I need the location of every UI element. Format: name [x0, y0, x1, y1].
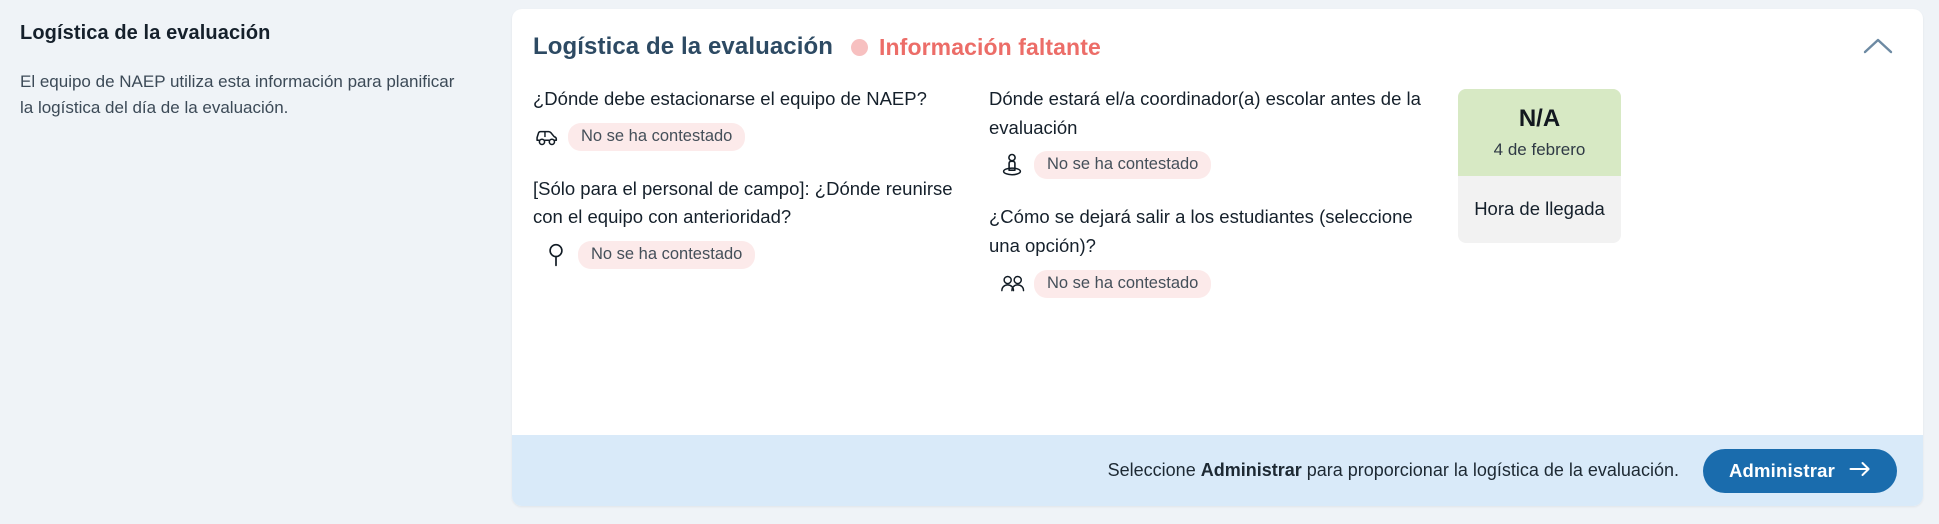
question-item: ¿Dónde debe estacionarse el equipo de NA…: [533, 85, 972, 151]
person-standing-icon: [999, 152, 1025, 178]
questions-column-left: ¿Dónde debe estacionarse el equipo de NA…: [512, 85, 972, 322]
arrival-time-value: N/A: [1464, 105, 1615, 133]
status-label: Información faltante: [879, 34, 1101, 61]
collapse-section-button[interactable]: [1857, 29, 1899, 65]
question-item: ¿Cómo se dejará salir a los estudiantes …: [989, 203, 1442, 297]
footer-instruction-prefix: Seleccione: [1108, 460, 1201, 480]
footer-instruction-bold: Administrar: [1201, 460, 1302, 480]
questions-grid: ¿Dónde debe estacionarse el equipo de NA…: [512, 61, 1923, 322]
question-text: [Sólo para el personal de campo]: ¿Dónde…: [533, 175, 972, 232]
footer-instruction-suffix: para proporcionar la logística de la eva…: [1302, 460, 1679, 480]
car-icon: [533, 124, 559, 150]
answer-status-chip: No se ha contestado: [578, 241, 755, 269]
chevron-up-icon: [1863, 37, 1893, 58]
question-item: [Sólo para el personal de campo]: ¿Dónde…: [533, 175, 972, 269]
arrival-time-panel-wrapper: N/A 4 de febrero Hora de llegada: [1458, 85, 1658, 322]
arrival-time-label: Hora de llegada: [1458, 176, 1621, 244]
section-description-panel: Logística de la evaluación El equipo de …: [0, 0, 500, 122]
question-item: Dónde estará el/a coordinador(a) escolar…: [989, 85, 1442, 179]
question-text: ¿Cómo se dejará salir a los estudiantes …: [989, 203, 1442, 260]
people-icon: [999, 271, 1025, 297]
question-answer-row[interactable]: No se ha contestado: [989, 151, 1442, 179]
page-title: Logística de la evaluación: [20, 22, 474, 45]
card-title: Logística de la evaluación: [533, 33, 833, 61]
answer-status-chip: No se ha contestado: [568, 123, 745, 151]
logistics-card: Logística de la evaluación Información f…: [512, 9, 1923, 506]
arrow-right-icon: [1849, 460, 1871, 482]
question-answer-row[interactable]: No se ha contestado: [533, 123, 972, 151]
question-text: Dónde estará el/a coordinador(a) escolar…: [989, 85, 1442, 142]
answer-status-chip: No se ha contestado: [1034, 151, 1211, 179]
footer-instruction: Seleccione Administrar para proporcionar…: [1108, 460, 1679, 481]
answer-status-chip: No se ha contestado: [1034, 270, 1211, 298]
administer-button-label: Administrar: [1729, 460, 1835, 482]
map-pin-icon: [543, 242, 569, 268]
arrival-time-value-section: N/A 4 de febrero: [1458, 89, 1621, 176]
question-answer-row[interactable]: No se ha contestado: [989, 270, 1442, 298]
arrival-date: 4 de febrero: [1464, 140, 1615, 160]
administer-button[interactable]: Administrar: [1703, 449, 1897, 493]
arrival-time-panel: N/A 4 de febrero Hora de llegada: [1458, 89, 1621, 243]
card-header: Logística de la evaluación Información f…: [512, 9, 1923, 61]
status-dot-icon: [851, 39, 868, 56]
question-text: ¿Dónde debe estacionarse el equipo de NA…: [533, 85, 972, 114]
section-description-text: El equipo de NAEP utiliza esta informaci…: [20, 69, 460, 122]
status-badge: Información faltante: [851, 34, 1101, 61]
question-answer-row[interactable]: No se ha contestado: [533, 241, 972, 269]
card-footer: Seleccione Administrar para proporcionar…: [512, 435, 1923, 506]
questions-column-right: Dónde estará el/a coordinador(a) escolar…: [972, 85, 1442, 322]
